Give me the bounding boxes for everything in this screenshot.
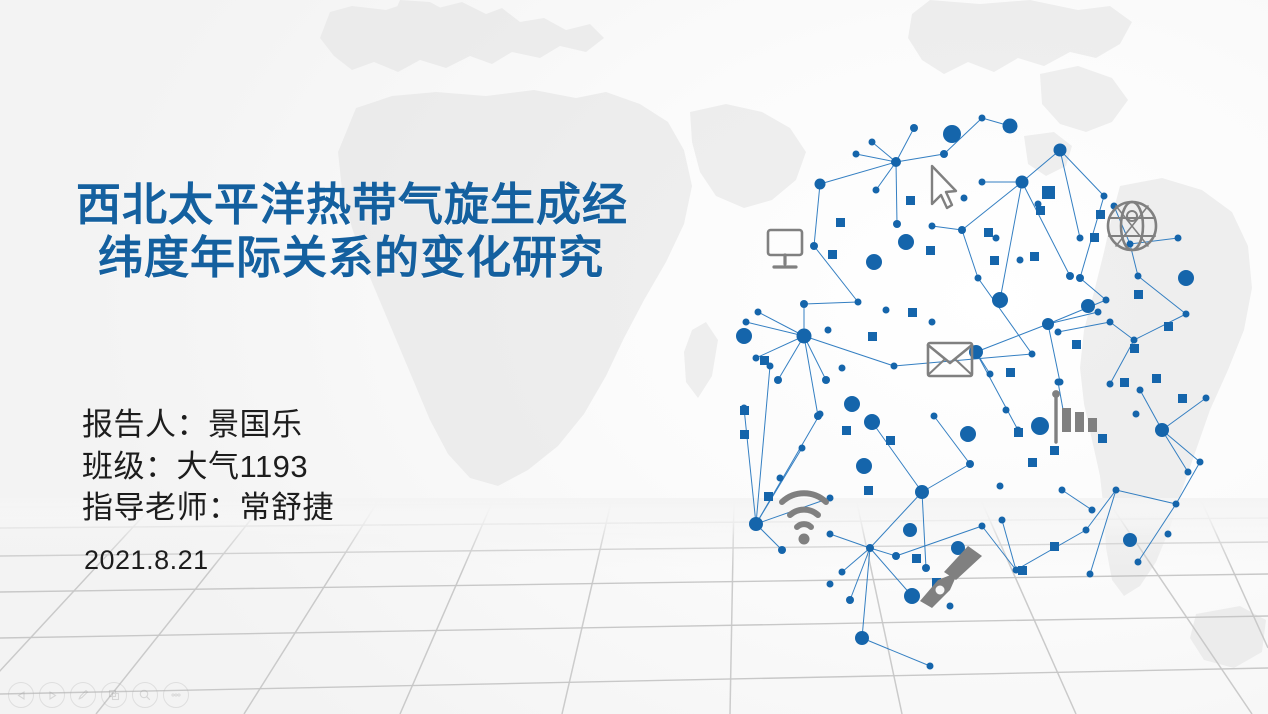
pen-icon bbox=[76, 688, 90, 702]
slide-toolbar bbox=[8, 682, 189, 708]
more-options-button[interactable] bbox=[163, 682, 189, 708]
globe-icon bbox=[1108, 202, 1156, 250]
ellipsis-icon bbox=[169, 688, 183, 702]
pen-nib-icon bbox=[920, 546, 982, 608]
monitor-icon bbox=[768, 230, 802, 267]
magnifier-icon bbox=[138, 688, 152, 702]
zoom-button[interactable] bbox=[132, 682, 158, 708]
cursor-icon bbox=[932, 166, 956, 208]
envelope-icon bbox=[928, 343, 972, 376]
network-sphere-graphic bbox=[700, 78, 1268, 608]
triangle-left-icon bbox=[15, 689, 28, 702]
title-line-2: 纬度年际关系的变化研究 bbox=[0, 231, 700, 284]
presentation-slide: 西北太平洋热带气旋生成经 纬度年际关系的变化研究 报告人：景国乐 班级：大气11… bbox=[0, 0, 1268, 714]
class-line: 班级：大气1193 bbox=[82, 446, 334, 488]
world-map-watermark bbox=[0, 0, 1268, 714]
slide-overview-button[interactable] bbox=[101, 682, 127, 708]
advisor-line: 指导老师：常舒捷 bbox=[82, 487, 334, 529]
next-slide-button[interactable] bbox=[39, 682, 65, 708]
bar-chart-icon bbox=[1053, 391, 1058, 442]
date-text: 2021.8.21 bbox=[84, 545, 209, 576]
pen-tool-button[interactable] bbox=[70, 682, 96, 708]
perspective-grid-floor bbox=[0, 498, 1268, 714]
byline-block: 报告人：景国乐 班级：大气1193 指导老师：常舒捷 bbox=[82, 404, 334, 529]
slides-icon bbox=[107, 688, 121, 702]
network-nodes bbox=[736, 115, 1210, 670]
page-title: 西北太平洋热带气旋生成经 纬度年际关系的变化研究 bbox=[0, 178, 700, 284]
previous-slide-button[interactable] bbox=[8, 682, 34, 708]
bar-chart-bars bbox=[1062, 408, 1097, 432]
triangle-right-icon bbox=[46, 689, 59, 702]
network-squares bbox=[740, 186, 1187, 587]
presenter-line: 报告人：景国乐 bbox=[82, 404, 334, 446]
wifi-icon bbox=[782, 493, 826, 544]
title-line-1: 西北太平洋热带气旋生成经 bbox=[0, 178, 700, 231]
network-links bbox=[744, 118, 1206, 666]
